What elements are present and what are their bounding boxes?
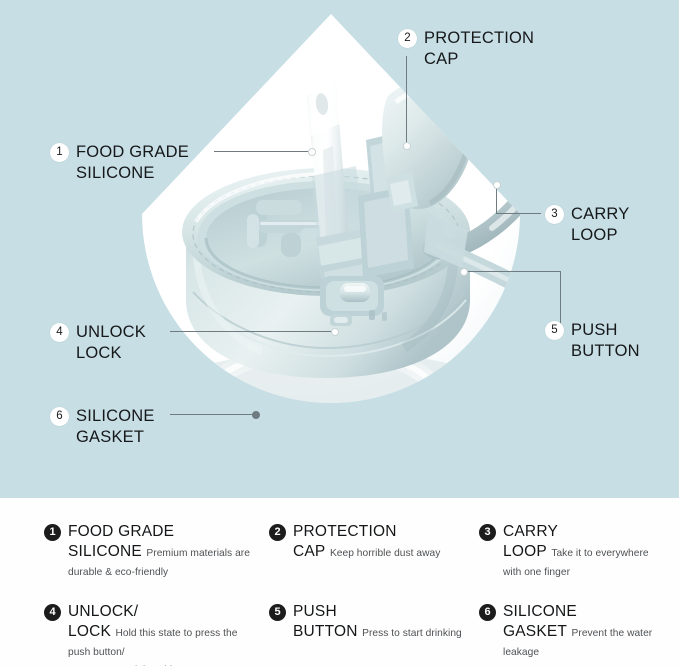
legend-body-5: PUSH BUTTON Press to start drinking [293, 602, 462, 642]
legend-item-protection-cap[interactable]: 2 PROTECTION CAP Keep horrible dust away [269, 522, 479, 580]
legend-item-carry-loop[interactable]: 3 CARRY LOOP Take it to everywhere with … [479, 522, 669, 580]
legend-grid: 1 FOOD GRADE SILICONE Premium materials … [44, 522, 644, 666]
callout-badge-5: 5 [545, 321, 564, 340]
legend-body-1: FOOD GRADE SILICONE Premium materials ar… [68, 522, 250, 580]
legend-badge-5: 5 [269, 604, 286, 621]
callout-label-3: CARRY LOOP [571, 204, 629, 246]
callout-badge-3: 3 [545, 205, 564, 224]
legend-badge-4: 4 [44, 604, 61, 621]
legend-panel: 1 FOOD GRADE SILICONE Premium materials … [0, 498, 679, 666]
callout-silicone-gasket[interactable]: 6 SILICONE GASKET [50, 406, 155, 448]
legend-item-push-button[interactable]: 5 PUSH BUTTON Press to start drinking [269, 602, 479, 666]
leader-dot-1 [308, 148, 316, 156]
callout-unlock-lock[interactable]: 4 UNLOCK LOCK [50, 322, 146, 364]
hero-panel: 1 FOOD GRADE SILICONE 2 PROTECTION CAP 3… [0, 0, 679, 498]
callout-label-1: FOOD GRADE SILICONE [76, 142, 189, 184]
callout-badge-6: 6 [50, 407, 69, 426]
legend-body-2: PROTECTION CAP Keep horrible dust away [293, 522, 440, 562]
legend-badge-2: 2 [269, 524, 286, 541]
leader-line-1 [214, 151, 311, 152]
callout-label-4: UNLOCK LOCK [76, 322, 146, 364]
legend-item-unlock-lock[interactable]: 4 UNLOCK/ LOCK Hold this state to press … [44, 602, 269, 666]
leader-line-4 [170, 331, 335, 332]
legend-item-food-grade-silicone[interactable]: 1 FOOD GRADE SILICONE Premium materials … [44, 522, 269, 580]
callout-push-button[interactable]: 5 PUSH BUTTON [545, 320, 640, 362]
legend-body-3: CARRY LOOP Take it to everywhere with on… [503, 522, 649, 580]
callout-badge-1: 1 [50, 143, 69, 162]
callout-label-6: SILICONE GASKET [76, 406, 155, 448]
callout-badge-4: 4 [50, 323, 69, 342]
leader-line-3 [496, 213, 541, 214]
legend-badge-3: 3 [479, 524, 496, 541]
legend-description-2: Keep horrible dust away [330, 548, 440, 559]
legend-badge-6: 6 [479, 604, 496, 621]
leader-dot-5 [460, 268, 468, 276]
leader-dot-3 [493, 181, 501, 189]
callout-badge-2: 2 [398, 29, 417, 48]
leader-dot-6 [252, 411, 260, 419]
callout-food-grade-silicone[interactable]: 1 FOOD GRADE SILICONE [50, 142, 189, 184]
legend-body-4: UNLOCK/ LOCK Hold this state to press th… [68, 602, 237, 666]
callout-label-5: PUSH BUTTON [571, 320, 640, 362]
legend-item-silicone-gasket[interactable]: 6 SILICONE GASKET Prevent the water leak… [479, 602, 669, 666]
legend-badge-1: 1 [44, 524, 61, 541]
callout-protection-cap[interactable]: 2 PROTECTION CAP [398, 28, 534, 70]
legend-body-6: SILICONE GASKET Prevent the water leakag… [503, 602, 669, 660]
legend-description-5: Press to start drinking [362, 628, 462, 639]
leader-dot-2 [403, 142, 411, 150]
leader-line-5 [463, 271, 561, 272]
callout-label-2: PROTECTION CAP [424, 28, 534, 70]
callout-carry-loop[interactable]: 3 CARRY LOOP [545, 204, 629, 246]
leader-dot-4 [331, 328, 339, 336]
legend-title-3: CARRY LOOP [503, 523, 558, 560]
infographic-page: 1 FOOD GRADE SILICONE 2 PROTECTION CAP 3… [0, 0, 679, 666]
legend-title-5: PUSH BUTTON [293, 603, 358, 640]
leader-line-6 [170, 414, 256, 415]
legend-title-6: SILICONE GASKET [503, 603, 577, 640]
